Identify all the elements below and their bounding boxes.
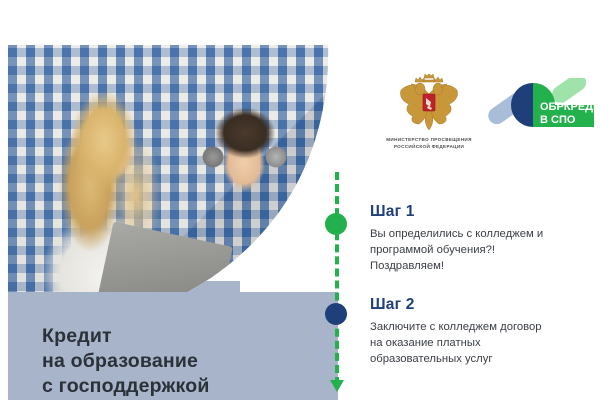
steps-list: Шаг 1 Вы определились с колледжем и прог… (370, 203, 600, 389)
poster-headline: Кредит на образование с господдержкой (42, 324, 332, 398)
ministry-logo: МИНИСТЕРСТВО ПРОСВЕЩЕНИЯ РОССИЙСКОЙ ФЕДЕ… (374, 74, 484, 151)
step-2-body: Заключите с колледжем договор на оказани… (370, 319, 600, 367)
timeline-dashed-line (335, 172, 339, 385)
ministry-logo-caption: МИНИСТЕРСТВО ПРОСВЕЩЕНИЯ РОССИЙСКОЙ ФЕДЕ… (374, 137, 484, 151)
timeline-dot-step-2 (325, 303, 347, 325)
promo-poster: Кредит на образование с господдержкой (0, 0, 600, 400)
timeline-arrow-icon (330, 380, 344, 392)
timeline-dot-step-1 (325, 213, 347, 235)
steps-timeline (334, 172, 340, 400)
brand-text-line1: ОБРКРЕДИТ (540, 101, 596, 113)
logo-row: МИНИСТЕРСТВО ПРОСВЕЩЕНИЯ РОССИЙСКОЙ ФЕДЕ… (356, 60, 600, 165)
step-2-title: Шаг 2 (370, 296, 600, 314)
russian-coat-of-arms-icon (397, 74, 461, 132)
right-content-column: МИНИСТЕРСТВО ПРОСВЕЩЕНИЯ РОССИЙСКОЙ ФЕДЕ… (356, 60, 600, 400)
step-item-2: Шаг 2 Заключите с колледжем договор на о… (370, 296, 600, 367)
step-1-body: Вы определились с колледжем и программой… (370, 226, 600, 274)
obrkredit-logo-graphic: ОБРКРЕДИТ В СПО (484, 78, 596, 134)
step-1-title: Шаг 1 (370, 203, 600, 221)
brand-text-line2: В СПО (540, 114, 576, 126)
step-item-1: Шаг 1 Вы определились с колледжем и прог… (370, 203, 600, 274)
obrkredit-brand-logo[interactable]: ОБРКРЕДИТ В СПО (484, 78, 596, 134)
